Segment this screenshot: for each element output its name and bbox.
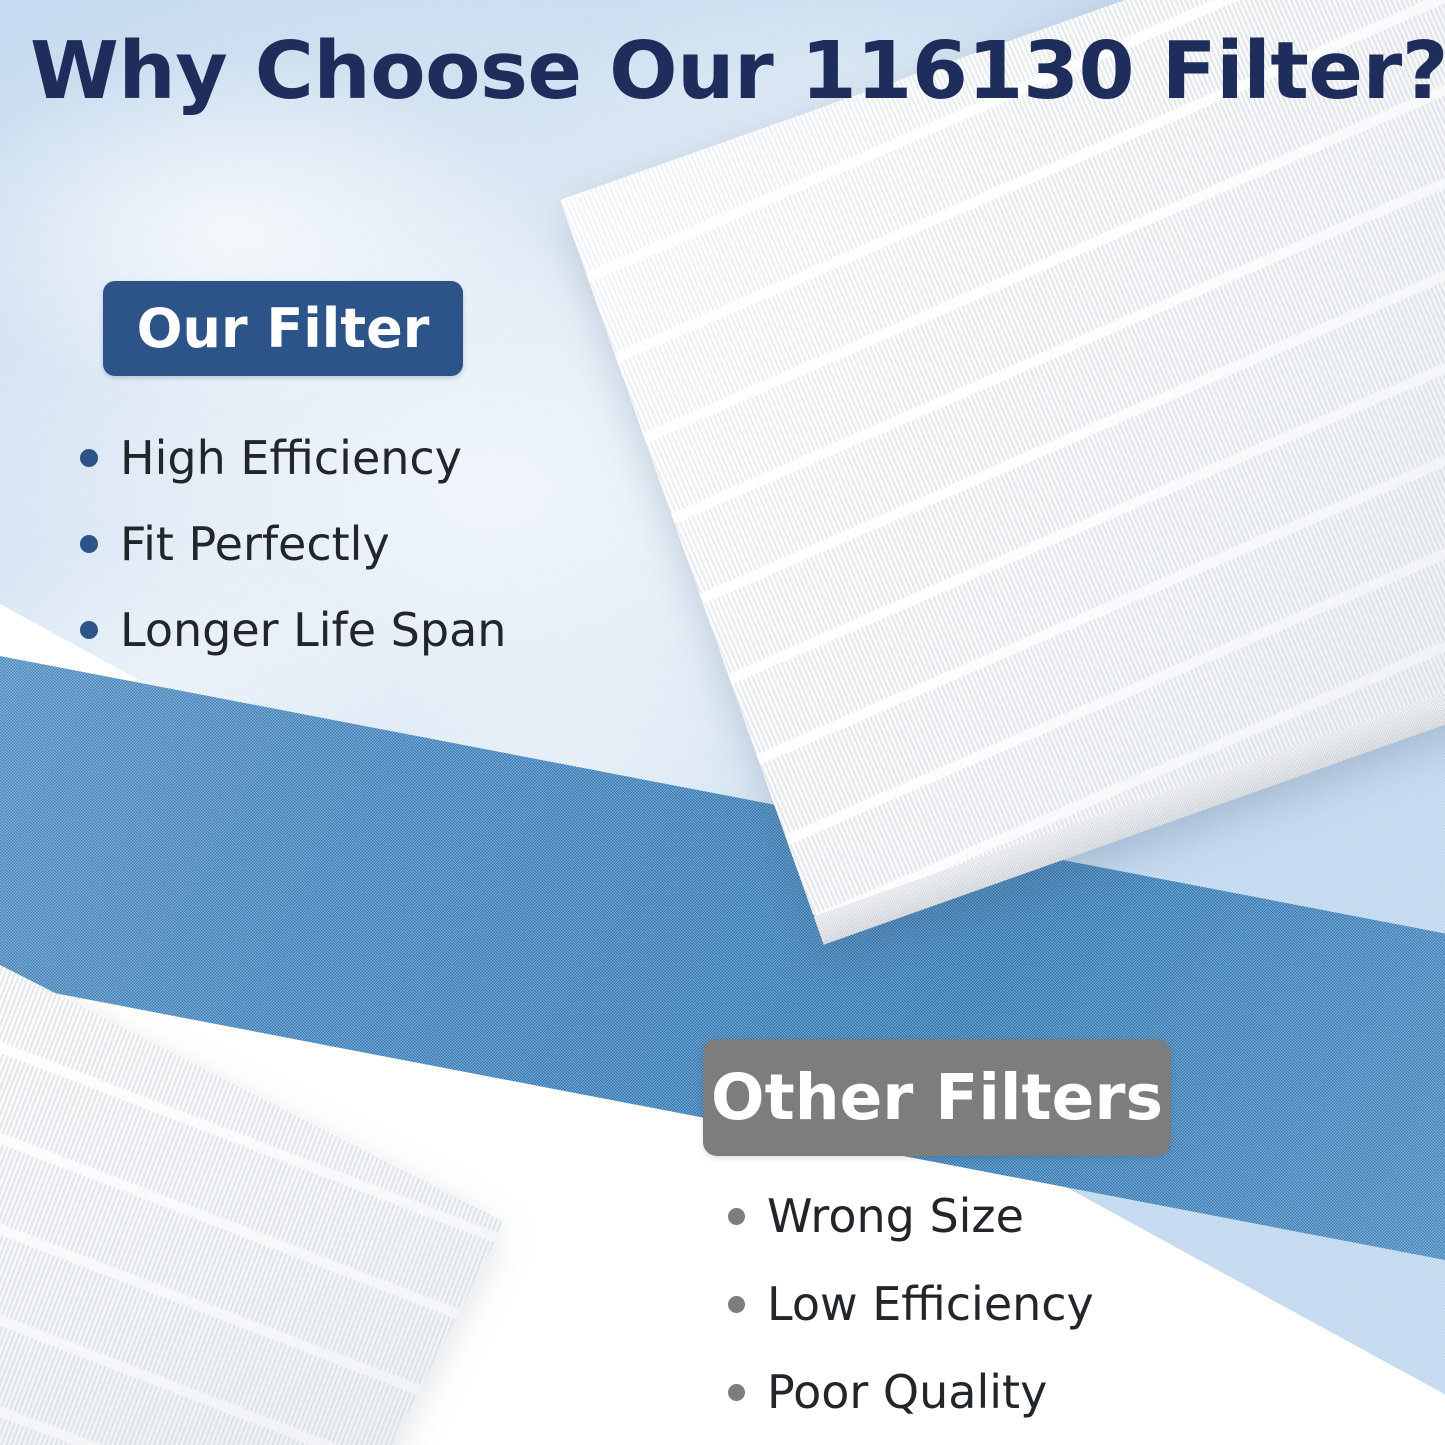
infographic-canvas: Why Choose Our 116130 Filter? Our Filter… bbox=[0, 0, 1445, 1445]
bullet-dot-icon bbox=[728, 1296, 745, 1313]
bullet-dot-icon bbox=[80, 449, 98, 467]
list-item: High Efficiency bbox=[80, 415, 506, 501]
list-item-label: Longer Life Span bbox=[120, 603, 506, 657]
list-item: Poor Quality bbox=[728, 1348, 1094, 1436]
bullet-dot-icon bbox=[80, 621, 98, 639]
list-item-label: Low Efficiency bbox=[767, 1277, 1094, 1331]
list-item-label: Wrong Size bbox=[767, 1189, 1024, 1243]
page-title: Why Choose Our 116130 Filter? bbox=[30, 32, 1445, 111]
our-filter-benefits-list: High Efficiency Fit Perfectly Longer Lif… bbox=[80, 415, 506, 673]
list-item-label: High Efficiency bbox=[120, 431, 462, 485]
list-item: Wrong Size bbox=[728, 1172, 1094, 1260]
list-item-label: Poor Quality bbox=[767, 1365, 1047, 1419]
list-item-label: Fit Perfectly bbox=[120, 517, 390, 571]
bullet-dot-icon bbox=[728, 1384, 745, 1401]
list-item: Longer Life Span bbox=[80, 587, 506, 673]
list-item: Fit Perfectly bbox=[80, 501, 506, 587]
bullet-dot-icon bbox=[728, 1208, 745, 1225]
bullet-dot-icon bbox=[80, 535, 98, 553]
our-filter-badge: Our Filter bbox=[103, 281, 463, 376]
list-item: Low Efficiency bbox=[728, 1260, 1094, 1348]
other-filters-drawbacks-list: Wrong Size Low Efficiency Poor Quality bbox=[728, 1172, 1094, 1436]
other-filters-badge: Other Filters bbox=[703, 1039, 1171, 1156]
text-layer: Why Choose Our 116130 Filter? Our Filter… bbox=[0, 0, 1445, 1445]
